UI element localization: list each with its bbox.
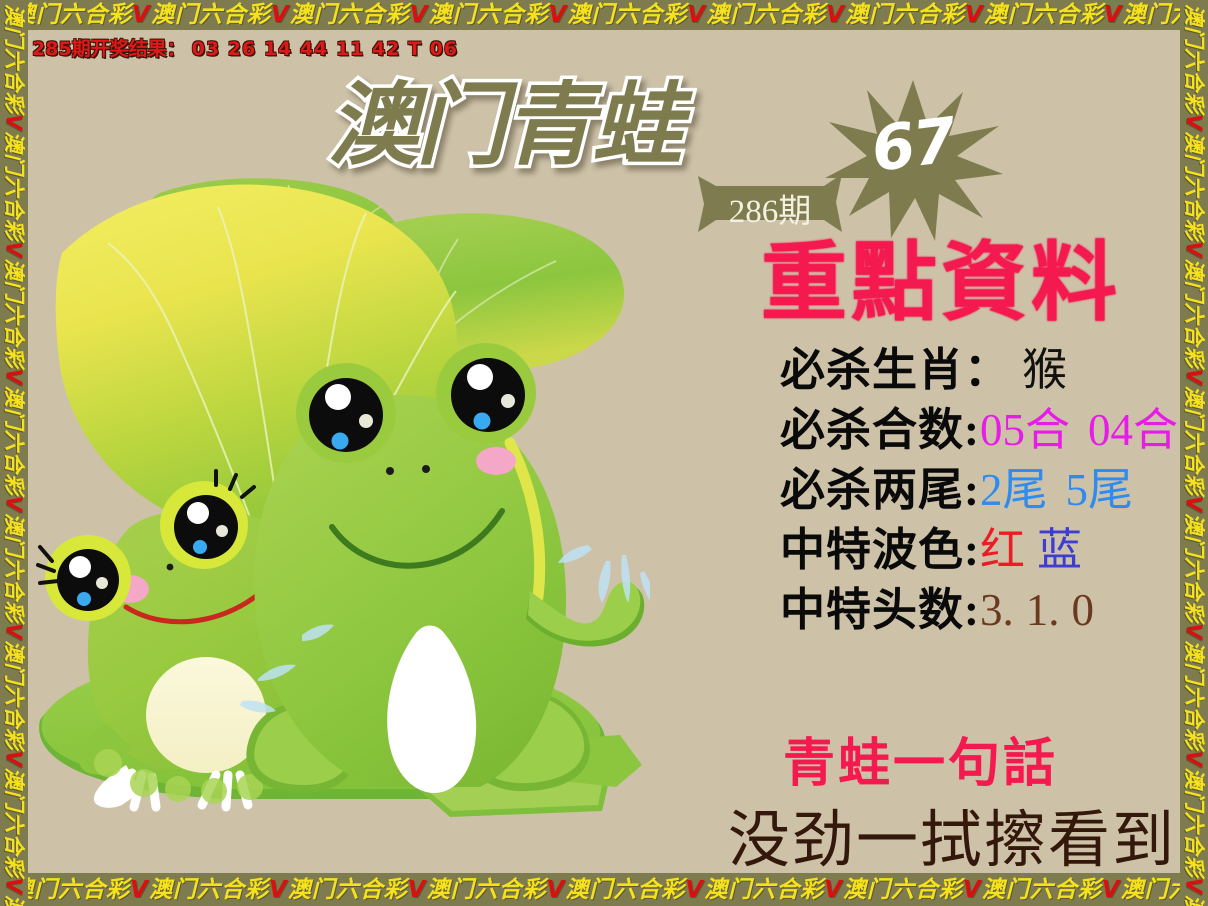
row-value: 04合 bbox=[1088, 405, 1178, 455]
row-label: 必杀生肖： bbox=[780, 345, 1010, 395]
saying-body: 没劲一拭擦看到 bbox=[728, 805, 1176, 873]
row-label: 必杀合数: bbox=[780, 405, 980, 455]
border-band-left: 澳门六合彩V澳门六合彩V澳门六合彩V澳门六合彩V澳门六合彩V澳门六合彩V澳门六合… bbox=[0, 0, 28, 906]
results-numbers: 03 26 14 44 11 42 T 06 bbox=[192, 38, 458, 60]
border-band-text: 澳门六合彩V澳门六合彩V澳门六合彩V澳门六合彩V澳门六合彩V澳门六合彩V澳门六合… bbox=[1, 4, 27, 906]
row-label: 中特头数: bbox=[780, 585, 980, 635]
border-band-text: 澳门六合彩V澳门六合彩V澳门六合彩V澳门六合彩V澳门六合彩V澳门六合彩V澳门六合… bbox=[12, 0, 1208, 30]
border-band-bottom: 澳门六合彩V澳门六合彩V澳门六合彩V澳门六合彩V澳门六合彩V澳门六合彩V澳门六合… bbox=[0, 873, 1208, 906]
row-value: 蓝 bbox=[1037, 525, 1082, 575]
row-value: 红 bbox=[980, 525, 1025, 575]
border-band-top: 澳门六合彩V澳门六合彩V澳门六合彩V澳门六合彩V澳门六合彩V澳门六合彩V澳门六合… bbox=[0, 0, 1208, 30]
frog-eye-left bbox=[38, 535, 131, 621]
issue-number: 286期 bbox=[696, 184, 844, 232]
previous-draw-results: 285期开奖结果：03 26 14 44 11 42 T 06 bbox=[32, 34, 458, 61]
results-label: 285期开奖结果： bbox=[32, 38, 186, 60]
row-value: 2尾 bbox=[980, 465, 1048, 515]
saying-heading: 青蛙一句話 bbox=[783, 735, 1058, 793]
frog-eye-right bbox=[436, 343, 536, 443]
row-value: 猴 bbox=[1022, 345, 1067, 395]
table-row: 必杀合数:05合04合 bbox=[780, 400, 1180, 460]
row-value: 05合 bbox=[980, 405, 1070, 455]
border-band-text: 澳门六合彩V澳门六合彩V澳门六合彩V澳门六合彩V澳门六合彩V澳门六合彩V澳门六合… bbox=[1181, 4, 1207, 906]
row-label: 中特波色: bbox=[780, 525, 980, 575]
table-row: 必杀生肖：猴 bbox=[780, 340, 1180, 400]
border-band-text: 澳门六合彩V澳门六合彩V澳门六合彩V澳门六合彩V澳门六合彩V澳门六合彩V澳门六合… bbox=[10, 875, 1208, 905]
key-info-rows: 必杀生肖：猴 必杀合数:05合04合 必杀两尾:2尾5尾 中特波色:红蓝 中特头… bbox=[780, 340, 1180, 640]
row-value: 1. bbox=[1026, 585, 1060, 635]
starburst-badge: 67 bbox=[823, 78, 1003, 243]
key-info-heading: 重點資料 bbox=[761, 237, 1121, 329]
row-label: 必杀两尾: bbox=[780, 465, 980, 515]
row-value: 5尾 bbox=[1066, 465, 1134, 515]
table-row: 中特头数:3.1.0 bbox=[780, 580, 1180, 640]
issue-ribbon: 286期 bbox=[696, 172, 844, 234]
table-row: 必杀两尾:2尾5尾 bbox=[780, 460, 1180, 520]
frog-lotus-illustration bbox=[10, 75, 650, 855]
border-band-right: 澳门六合彩V澳门六合彩V澳门六合彩V澳门六合彩V澳门六合彩V澳门六合彩V澳门六合… bbox=[1180, 0, 1208, 906]
table-row: 中特波色:红蓝 bbox=[780, 520, 1180, 580]
lottery-poster: 285期开奖结果：03 26 14 44 11 42 T 06 澳门青蛙 67 … bbox=[0, 0, 1208, 906]
frog-eye-left bbox=[296, 363, 396, 463]
row-value: 0 bbox=[1072, 585, 1095, 635]
row-value: 3. bbox=[980, 585, 1014, 635]
